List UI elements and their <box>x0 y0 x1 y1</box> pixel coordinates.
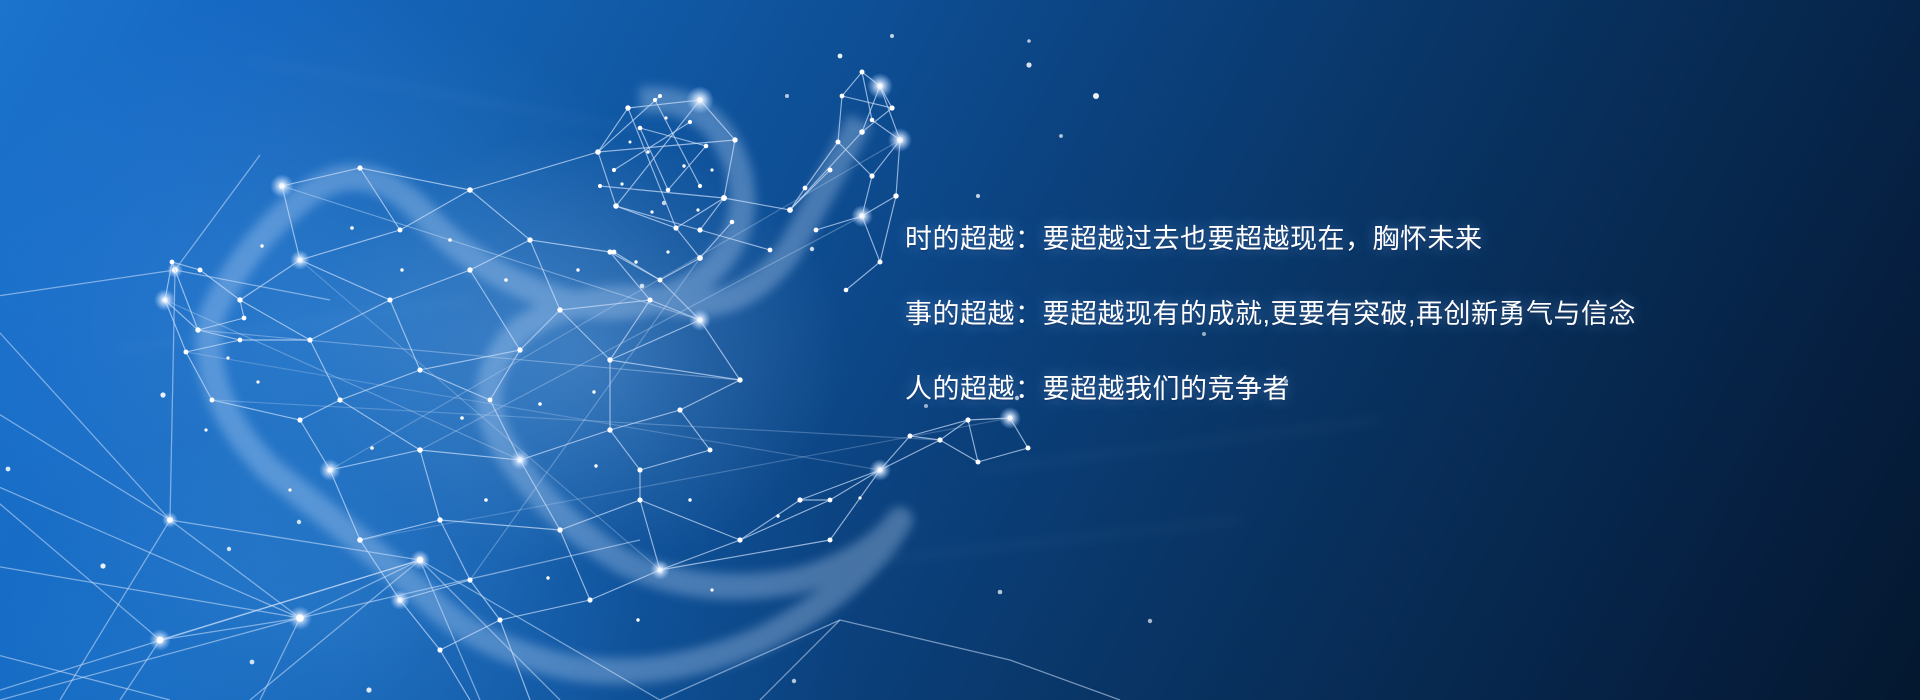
tagline-time: 时的超越：要超越过去也要超越现在，胸怀未来 <box>905 226 1785 253</box>
tagline-people: 人的超越：要超越我们的竞争者 <box>905 376 1785 403</box>
left-glow <box>0 0 820 700</box>
hero-banner: 时的超越：要超越过去也要超越现在，胸怀未来 事的超越：要超越现有的成就,更要有突… <box>0 0 1920 700</box>
tagline-matter: 事的超越：要超越现有的成就,更要有突破,再创新勇气与信念 <box>905 301 1785 328</box>
tagline-group: 时的超越：要超越过去也要超越现在，胸怀未来 事的超越：要超越现有的成就,更要有突… <box>905 226 1785 403</box>
figure-glow <box>200 40 960 660</box>
bottom-glow <box>0 340 780 700</box>
